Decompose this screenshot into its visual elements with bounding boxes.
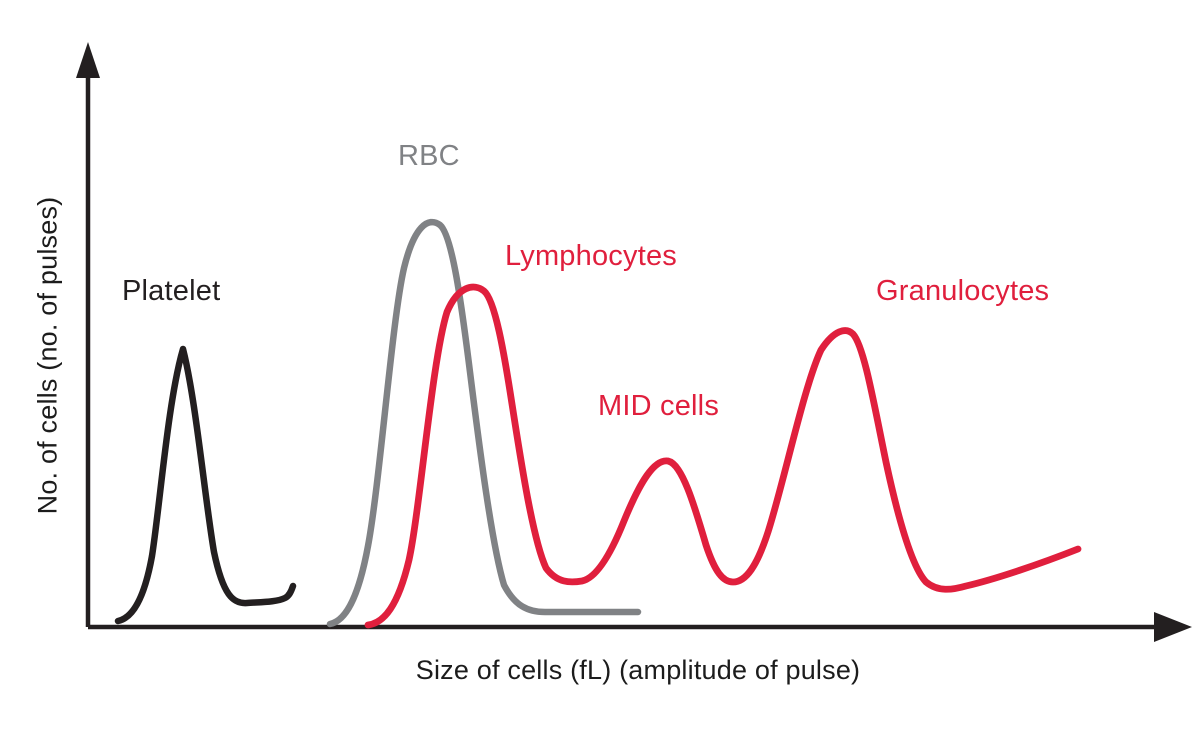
x-axis-title: Size of cells (fL) (amplitude of pulse) [88,655,1188,686]
label-lymphocytes: Lymphocytes [505,240,677,273]
label-rbc: RBC [398,140,460,173]
wbc-curve [368,287,1078,625]
label-granulocytes: Granulocytes [876,275,1049,308]
label-platelet: Platelet [122,275,220,308]
y-axis-arrowhead [76,42,100,78]
plot-area [0,0,1200,750]
histogram-figure: Platelet RBC Lymphocytes MID cells Granu… [0,0,1200,750]
label-mid-cells: MID cells [598,390,719,423]
axes-group [76,42,1192,642]
platelet-curve [118,349,293,621]
y-axis-title: No. of cells (no. of pulses) [33,96,64,616]
rbc-curve [330,222,638,624]
x-axis-arrowhead [1154,612,1192,642]
